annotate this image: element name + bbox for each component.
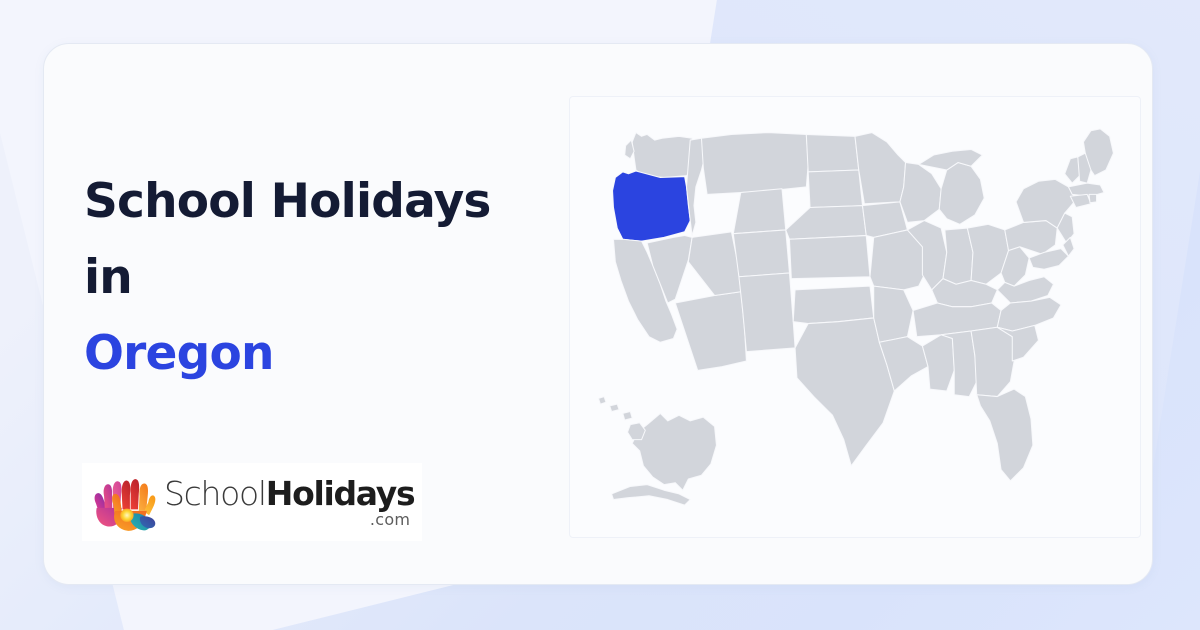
hero-card: School Holidays in Oregon bbox=[43, 43, 1153, 585]
state-oregon bbox=[613, 171, 691, 241]
state-montana bbox=[701, 133, 808, 195]
state-indiana bbox=[943, 228, 973, 284]
state-alaska bbox=[632, 413, 716, 490]
state-wyoming bbox=[733, 189, 785, 234]
logo-word-school: School bbox=[164, 474, 266, 513]
state-new-mexico bbox=[739, 273, 795, 352]
state-wisconsin bbox=[900, 163, 941, 223]
state-florida bbox=[977, 389, 1033, 481]
logo-wordmark: SchoolHolidays .com bbox=[164, 477, 414, 528]
logo-word-holidays: Holidays bbox=[266, 474, 415, 513]
site-logo[interactable]: SchoolHolidays .com bbox=[82, 463, 422, 541]
state-minnesota bbox=[855, 133, 906, 204]
headline-line-2: in bbox=[84, 240, 564, 316]
us-map bbox=[570, 97, 1140, 537]
state-arizona bbox=[675, 292, 746, 371]
state-arkansas bbox=[874, 286, 913, 342]
state-rhode-island bbox=[1089, 194, 1096, 202]
state-hawaii-big-island bbox=[628, 423, 646, 440]
state-hawaii-maui bbox=[623, 412, 632, 420]
state-kansas bbox=[789, 236, 870, 279]
state-utah bbox=[688, 232, 740, 296]
state-south-dakota bbox=[808, 170, 862, 207]
state-hawaii-kauai bbox=[598, 397, 605, 404]
state-hawaii-oahu bbox=[610, 404, 619, 411]
state-connecticut bbox=[1070, 194, 1091, 207]
state-michigan bbox=[939, 163, 984, 225]
headline-state-name: Oregon bbox=[84, 316, 564, 392]
state-colorado bbox=[733, 230, 789, 277]
headline-line-1: School Holidays bbox=[84, 164, 564, 240]
state-mississippi bbox=[922, 335, 954, 391]
state-north-carolina bbox=[997, 297, 1061, 331]
page-title: School Holidays in Oregon bbox=[84, 164, 564, 392]
state-washington bbox=[632, 133, 694, 178]
state-vermont bbox=[1065, 157, 1080, 183]
us-map-panel bbox=[569, 96, 1141, 538]
state-alaska-aleutians bbox=[612, 485, 691, 506]
state-michigan-up bbox=[919, 149, 983, 170]
state-oklahoma bbox=[793, 286, 874, 323]
state-pennsylvania bbox=[1005, 221, 1057, 255]
logo-word-tld: .com bbox=[164, 512, 414, 528]
state-georgia bbox=[971, 327, 1014, 396]
colorful-hands-icon bbox=[88, 471, 160, 533]
state-nebraska bbox=[786, 206, 867, 240]
state-north-dakota bbox=[806, 134, 858, 171]
